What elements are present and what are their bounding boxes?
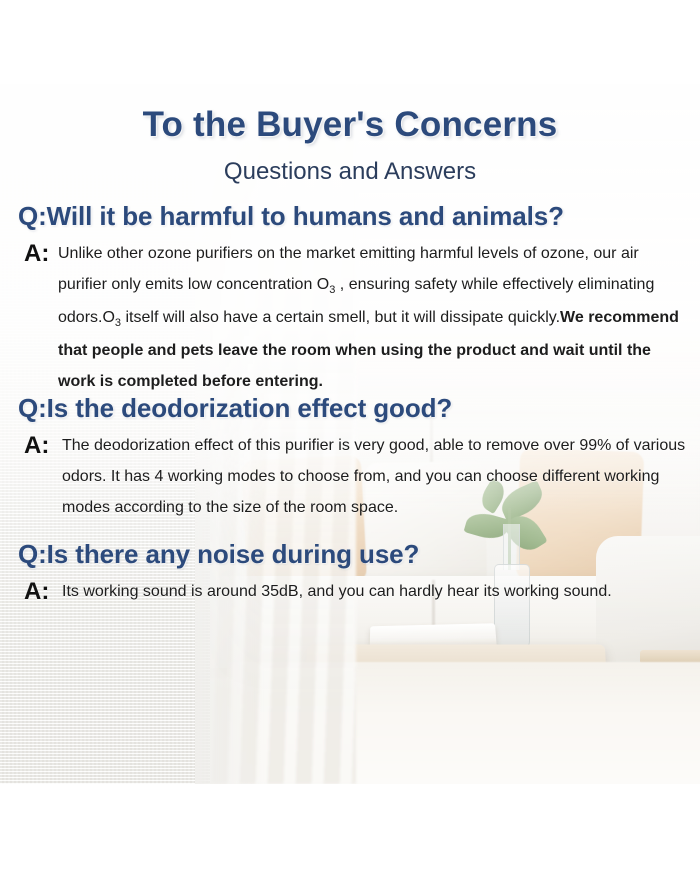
subscript-three: 3: [115, 317, 121, 329]
faq-answer-text: Its working sound is around 35dB, and yo…: [62, 576, 688, 607]
faq-question: Q:Is the deodorization effect good?: [18, 393, 688, 424]
faq-answer: A: Unlike other ozone purifiers on the m…: [18, 238, 688, 397]
faq-question: Q:Will it be harmful to humans and anima…: [18, 201, 688, 232]
faq-answer-text: The deodorization effect of this purifie…: [62, 430, 688, 523]
faq-answer: A: The deodorization effect of this puri…: [18, 430, 688, 523]
faq-item: Q:Is there any noise during use? A: Its …: [18, 539, 688, 607]
faq-answer: A: Its working sound is around 35dB, and…: [18, 576, 688, 607]
subscript-three: 3: [329, 284, 335, 296]
page-title: To the Buyer's Concerns: [0, 105, 700, 145]
faq-product-image-card: To the Buyer's Concerns Questions and An…: [0, 84, 700, 784]
answer-marker: A:: [24, 576, 49, 607]
faq-answer-text: Unlike other ozone purifiers on the mark…: [58, 238, 684, 397]
answer-marker: A:: [24, 238, 49, 269]
faq-item: Q:Will it be harmful to humans and anima…: [18, 201, 688, 397]
page-subtitle: Questions and Answers: [0, 158, 700, 186]
answer-marker: A:: [24, 430, 49, 461]
faq-content: To the Buyer's Concerns Questions and An…: [0, 84, 700, 784]
page-root: To the Buyer's Concerns Questions and An…: [0, 0, 700, 869]
faq-item: Q:Is the deodorization effect good? A: T…: [18, 393, 688, 523]
answer-segment: itself will also have a certain smell, b…: [121, 309, 560, 326]
faq-question: Q:Is there any noise during use?: [18, 539, 688, 570]
